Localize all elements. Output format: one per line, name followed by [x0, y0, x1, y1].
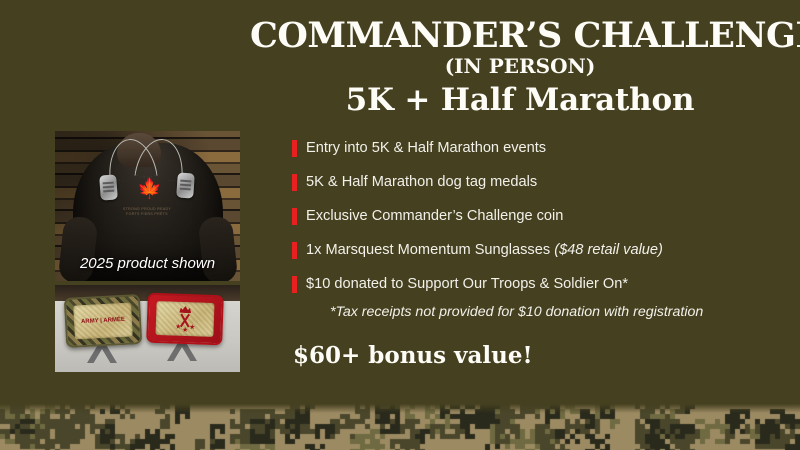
shirt-print-text: STRONG PROUD READY FORTS FIERS PRÊTS: [110, 207, 184, 217]
bullet-marker-icon: [292, 276, 297, 293]
benefit-label: 1x Marsquest Momentum Sunglasses ($48 re…: [306, 242, 663, 259]
list-item: Entry into 5K & Half Marathon events: [292, 131, 792, 165]
maple-leaf-small-2-icon: [183, 327, 188, 332]
benefit-label: 5K & Half Marathon dog tag medals: [306, 174, 537, 191]
bullet-marker-icon: [292, 242, 297, 259]
benefits-list: Entry into 5K & Half Marathon events 5K …: [292, 131, 792, 301]
crown-and-swords-icon: [172, 306, 199, 333]
list-item: 1x Marsquest Momentum Sunglasses ($48 re…: [292, 233, 792, 267]
bullet-marker-icon: [292, 174, 297, 191]
footnote-text: *Tax receipts not provided for $10 donat…: [330, 304, 703, 320]
event-title: 5K + Half Marathon: [250, 82, 790, 118]
list-item: $10 donated to Support Our Troops & Sold…: [292, 267, 792, 301]
crown-icon: [179, 306, 191, 313]
camo-footer-band: [0, 404, 800, 450]
benefit-label: Entry into 5K & Half Marathon events: [306, 140, 546, 157]
benefit-label: Exclusive Commander’s Challenge coin: [306, 208, 563, 225]
camo-pattern: [0, 404, 800, 450]
promo-slide: COMMANDER’S CHALLENGE (IN PERSON) 5K + H…: [0, 0, 800, 450]
list-item: 5K & Half Marathon dog tag medals: [292, 165, 792, 199]
list-item: Exclusive Commander’s Challenge coin: [292, 199, 792, 233]
product-photo-dog-tags: 🍁 STRONG PROUD READY FORTS FIERS PRÊTS 2…: [55, 131, 240, 281]
dog-tag-medal-left: [99, 174, 118, 200]
challenge-coin-camo: ARMY | ARMÉE: [64, 294, 143, 348]
bullet-marker-icon: [292, 208, 297, 225]
benefit-label: $10 donated to Support Our Troops & Sold…: [306, 276, 628, 293]
dog-tag-medal-right: [176, 172, 195, 198]
maple-leaf-small-3-icon: [190, 324, 195, 329]
bullet-marker-icon: [292, 140, 297, 157]
heading-block: COMMANDER’S CHALLENGE (IN PERSON) 5K + H…: [250, 16, 790, 118]
coin-face-right: [155, 301, 214, 337]
page-title: COMMANDER’S CHALLENGE: [250, 16, 790, 56]
coin-left-emblem: ARMY | ARMÉE: [73, 303, 133, 340]
page-subtitle: (IN PERSON): [250, 55, 790, 78]
product-photo-coins: ARMY | ARMÉE: [55, 285, 240, 372]
coin-crest-icon: [155, 301, 214, 337]
coin-face-left: ARMY | ARMÉE: [73, 303, 133, 340]
maple-leaf-icon: 🍁: [137, 179, 155, 199]
bonus-value-text: $60+ bonus value!: [293, 342, 533, 369]
challenge-coin-red: [146, 293, 224, 346]
coin-army-text: ARMY | ARMÉE: [81, 317, 125, 325]
photo-caption: 2025 product shown: [55, 255, 240, 272]
